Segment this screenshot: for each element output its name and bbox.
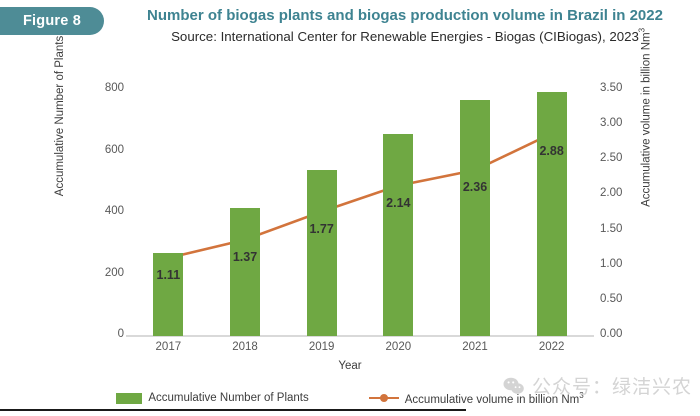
x-axis-tick-2021: 2021 — [437, 341, 513, 353]
y-axis-right-title: Accumulative volume in billion Nm3 — [638, 17, 653, 217]
y-axis-left-tick: 800 — [78, 82, 124, 94]
legend-swatch-line-icon — [369, 392, 399, 403]
data-label-2018: 1.37 — [233, 250, 257, 264]
data-label-2017: 1.11 — [157, 268, 181, 282]
line-series-path — [168, 134, 551, 258]
data-label-2019: 1.77 — [309, 222, 333, 236]
chart-subtitle: Source: International Center for Renewab… — [120, 27, 690, 46]
bar-2022[interactable] — [537, 92, 567, 336]
y-axis-right-tick: 3.00 — [600, 117, 640, 129]
y-axis-right-tick: 0.00 — [600, 328, 640, 340]
data-label-2022: 2.88 — [539, 144, 563, 158]
legend-item-plants[interactable]: Accumulative Number of Plants — [116, 392, 308, 404]
y-axis-left-title: Accumulative Number of Plants — [54, 16, 66, 216]
y-axis-right-tick: 3.50 — [600, 82, 640, 94]
x-axis-labels: 201720182019202020212022 — [130, 341, 590, 359]
y-axis-right-tick: 1.50 — [600, 223, 640, 235]
bar-2017[interactable] — [153, 253, 183, 336]
figure-badge: Figure 8 — [0, 7, 104, 35]
chart-legend: Accumulative Number of Plants Accumulati… — [0, 390, 700, 406]
y-axis-right-tick: 1.00 — [600, 258, 640, 270]
data-label-2021: 2.36 — [463, 180, 487, 194]
bar-2018[interactable] — [230, 208, 260, 336]
x-axis-tick-2019: 2019 — [284, 341, 360, 353]
legend-label-plants: Accumulative Number of Plants — [148, 392, 308, 404]
x-axis-tick-2018: 2018 — [207, 341, 283, 353]
plot-area: 1.111.371.772.142.362.88 — [130, 90, 590, 336]
y-axis-left-tick: 600 — [78, 144, 124, 156]
x-axis-tick-2020: 2020 — [360, 341, 436, 353]
bottom-divider — [0, 409, 466, 411]
bar-2019[interactable] — [307, 170, 337, 336]
legend-label-volume: Accumulative volume in billion Nm3 — [405, 391, 584, 406]
y-axis-left-tick: 0 — [78, 328, 124, 340]
x-axis-tick-2022: 2022 — [514, 341, 590, 353]
y-axis-left-tick: 200 — [78, 267, 124, 279]
y-axis-right-tick: 2.00 — [600, 187, 640, 199]
chart-header: Figure 8 Number of biogas plants and bio… — [0, 0, 700, 52]
legend-swatch-bar-icon — [116, 393, 142, 404]
y-axis-left-tick: 400 — [78, 205, 124, 217]
title-block: Number of biogas plants and biogas produ… — [120, 6, 690, 46]
page-title: Number of biogas plants and biogas produ… — [120, 6, 690, 26]
x-axis-title: Year — [0, 360, 700, 372]
legend-item-volume[interactable]: Accumulative volume in billion Nm3 — [369, 391, 584, 406]
bar-2021[interactable] — [460, 100, 490, 336]
y-axis-right-tick: 0.50 — [600, 293, 640, 305]
y-axis-left: 0200400600800 — [78, 84, 124, 344]
x-axis-tick-2017: 2017 — [130, 341, 206, 353]
line-series-svg — [130, 90, 590, 336]
figure-badge-label: Figure 8 — [23, 13, 81, 29]
bar-2020[interactable] — [383, 134, 413, 336]
y-axis-right-tick: 2.50 — [600, 152, 640, 164]
data-label-2020: 2.14 — [386, 196, 410, 210]
y-axis-right: 0.000.501.001.502.002.503.003.50 — [600, 84, 640, 344]
